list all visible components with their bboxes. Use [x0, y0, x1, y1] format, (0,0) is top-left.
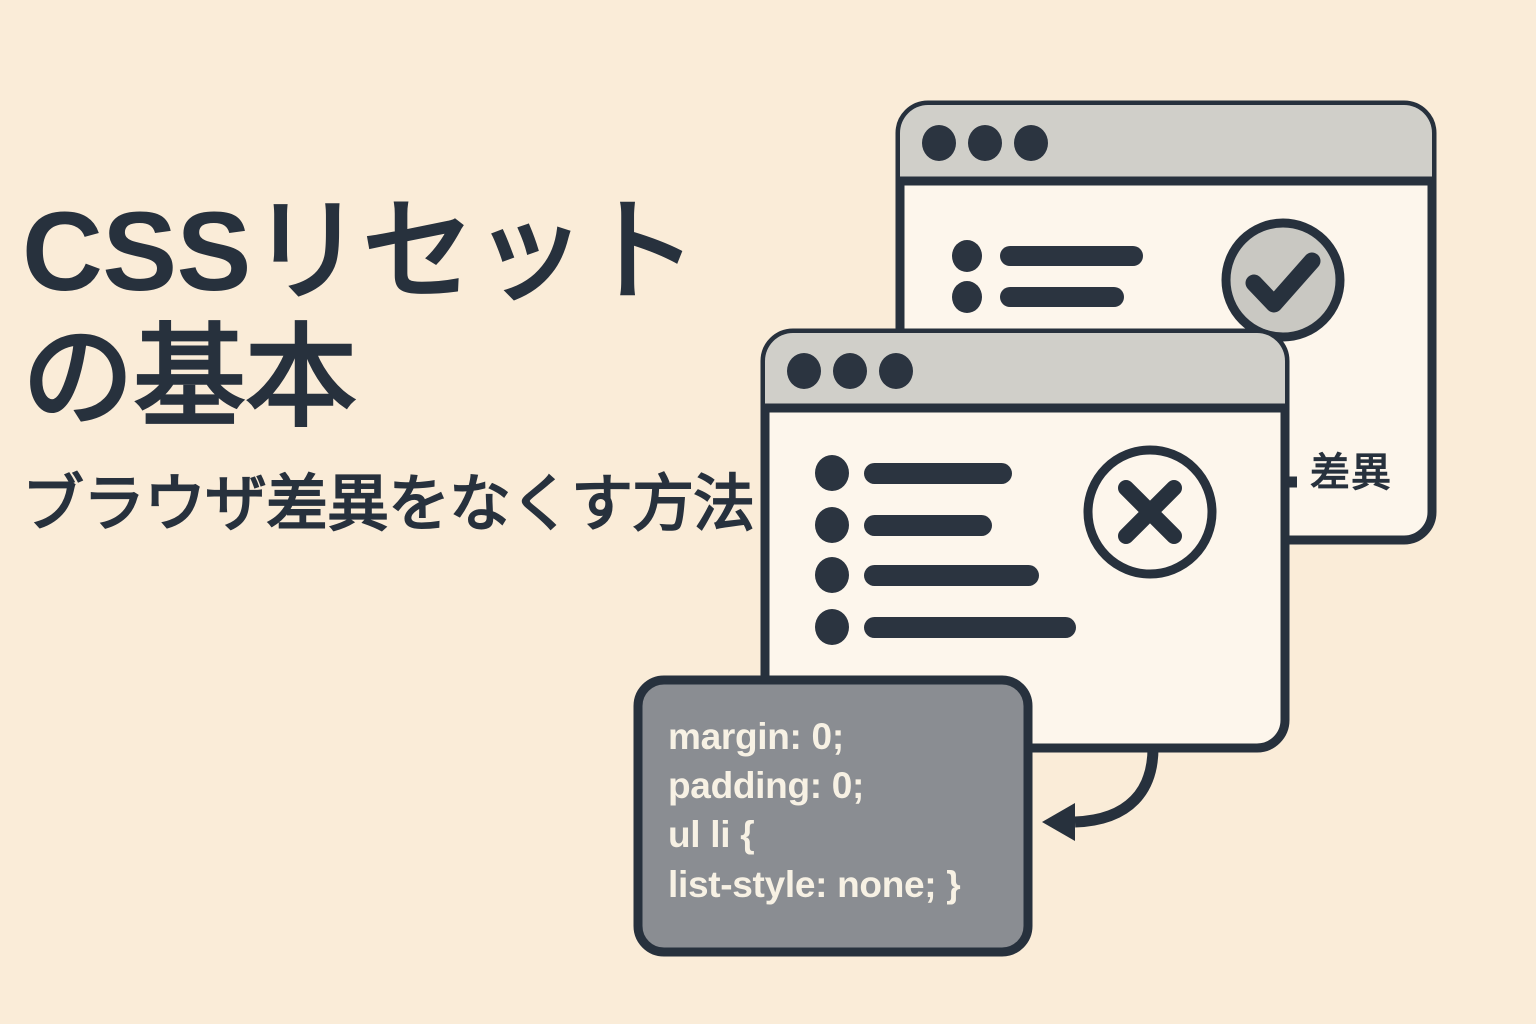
code-snippet: margin: 0; padding: 0; ul li { list-styl… [668, 712, 1018, 909]
page-title-line-1: CSSリセット [22, 196, 782, 308]
titlebar-dot-close-front[interactable] [787, 353, 821, 389]
list-bar [864, 617, 1076, 638]
list-bar [864, 463, 1012, 484]
list-bullet [815, 609, 849, 645]
list-bar [1000, 287, 1124, 307]
page-subtitle: ブラウザ差異をなくす方法 [22, 474, 782, 536]
code-line-4: list-style: none; } [668, 860, 1018, 909]
titlebar-dot-minimize-front[interactable] [833, 353, 867, 389]
list-bar [864, 515, 992, 536]
check-circle-icon [1226, 223, 1340, 337]
list-bar [1000, 246, 1143, 266]
titlebar-dot-close-back[interactable] [922, 125, 956, 161]
diff-annotation-label: 差異 [1310, 440, 1392, 498]
titlebar-dot-maximize-front[interactable] [879, 353, 913, 389]
list-bar [864, 565, 1039, 586]
list-bullet [815, 455, 849, 491]
list-bullet [815, 507, 849, 543]
arrow-curved-icon [1042, 748, 1153, 841]
curved-arrow-head [1042, 803, 1075, 841]
poster-canvas: CSSリセット の基本 ブラウザ差異をなくす方法 差異 margin: 0; p… [0, 0, 1536, 1024]
list-bullet [952, 281, 982, 313]
page-title-line-2: の基本 [22, 322, 782, 434]
titlebar-dot-maximize-back[interactable] [1014, 125, 1048, 161]
code-line-1: margin: 0; [668, 712, 1018, 761]
list-bullet [815, 557, 849, 593]
titlebar-dot-minimize-back[interactable] [968, 125, 1002, 161]
headline-block: CSSリセット の基本 ブラウザ差異をなくす方法 [22, 196, 782, 536]
code-line-2: padding: 0; [668, 761, 1018, 810]
list-bullet [952, 240, 982, 272]
code-line-3: ul li { [668, 810, 1018, 859]
curved-arrow-shaft [1075, 748, 1153, 822]
check-circle-bg [1226, 223, 1340, 337]
